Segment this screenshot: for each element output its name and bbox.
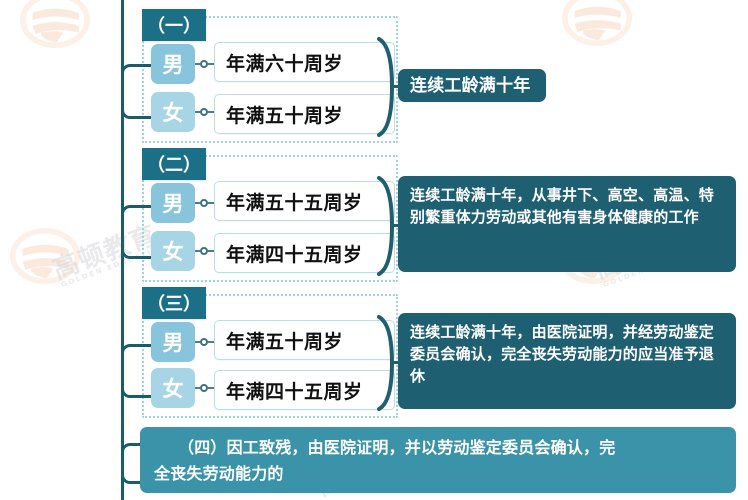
- node-dash-right: [208, 63, 214, 65]
- gender-chip-male-2[interactable]: 男: [151, 183, 195, 223]
- watermark-logo-icon: [18, 0, 92, 48]
- age-pill-label: 年满四十五周岁: [226, 240, 363, 267]
- gender-chip-label: 男: [163, 49, 184, 79]
- condition-text: 连续工龄满十年，由医院证明，并经劳动鉴定委员会确认，完全丧失劳动能力的应当准予退…: [410, 323, 714, 385]
- watermark-logo-icon: [560, 0, 634, 46]
- group-badge-1: （一）: [142, 9, 206, 41]
- condition-panel-4: （四）因工致残，由医院证明，并以劳动鉴定委员会确认，完 全丧失劳动能力的: [140, 427, 736, 493]
- bottom-line-1: （四）因工致残，由医院证明，并以劳动鉴定委员会确认，完: [178, 438, 615, 457]
- node-connector: [195, 199, 214, 207]
- node-ring-icon: [200, 199, 208, 207]
- node-ring-icon: [200, 384, 208, 392]
- gender-chip-label: 男: [163, 188, 184, 218]
- node-dash-right: [208, 250, 214, 252]
- group-badge-label: （三）: [147, 290, 201, 316]
- condition-text: 连续工龄满十年，从事井下、高空、高温、特别繁重体力劳动或其他有害身体健康的工作: [410, 186, 714, 226]
- age-pill-2-male[interactable]: 年满五十五周岁: [214, 181, 395, 221]
- bottom-line-2: 全丧失劳动能力的: [154, 461, 722, 487]
- gender-chip-label: 女: [163, 97, 184, 127]
- node-dash-right: [208, 341, 214, 343]
- age-pill-1-female[interactable]: 年满五十周岁: [214, 94, 395, 134]
- watermark-logo-icon: [8, 228, 82, 284]
- condition-panel-3: 连续工龄满十年，由医院证明，并经劳动鉴定委员会确认，完全丧失劳动能力的应当准予退…: [398, 313, 736, 409]
- age-pill-3-male[interactable]: 年满五十周岁: [214, 320, 395, 360]
- age-pill-label: 年满四十五周岁: [226, 377, 363, 404]
- gender-chip-label: 女: [163, 373, 184, 403]
- group-badge-3: （三）: [142, 287, 206, 319]
- gender-chip-label: 女: [163, 236, 184, 266]
- group-badge-2: （二）: [142, 148, 206, 180]
- age-pill-2-female[interactable]: 年满四十五周岁: [214, 233, 395, 273]
- age-pill-label: 年满六十周岁: [226, 49, 343, 76]
- gender-chip-female-1[interactable]: 女: [151, 92, 195, 132]
- gender-chip-male-1[interactable]: 男: [151, 44, 195, 84]
- node-connector: [195, 247, 214, 255]
- connector-elbow: [121, 344, 154, 363]
- connector-elbow: [121, 240, 154, 259]
- node-connector: [195, 384, 214, 392]
- age-pill-label: 年满五十五周岁: [226, 188, 363, 215]
- group-badge-label: （二）: [147, 151, 201, 177]
- age-pill-3-female[interactable]: 年满四十五周岁: [214, 370, 395, 410]
- connector-elbow: [121, 379, 154, 398]
- node-dash-right: [208, 387, 214, 389]
- condition-panel-1: 连续工龄满十年: [398, 69, 546, 102]
- node-ring-icon: [200, 60, 208, 68]
- connector-elbow: [121, 64, 154, 83]
- diagram-canvas: 高顿教育 GOLDEN EDUCATION 高顿教育 GOLDEN EDUCAT…: [0, 0, 748, 500]
- connector-elbow: [121, 100, 154, 119]
- node-ring-icon: [200, 338, 208, 346]
- node-dash-right: [208, 202, 214, 204]
- condition-text: 连续工龄满十年: [410, 76, 530, 96]
- node-connector: [195, 108, 214, 116]
- condition-panel-2: 连续工龄满十年，从事井下、高空、高温、特别繁重体力劳动或其他有害身体健康的工作: [398, 176, 736, 272]
- node-connector: [195, 60, 214, 68]
- age-pill-label: 年满五十周岁: [226, 327, 343, 354]
- age-pill-1-male[interactable]: 年满六十周岁: [214, 42, 395, 82]
- age-pill-label: 年满五十周岁: [226, 101, 343, 128]
- node-connector: [195, 338, 214, 346]
- gender-chip-male-3[interactable]: 男: [151, 322, 195, 362]
- connector-elbow: [121, 205, 154, 224]
- gender-chip-female-3[interactable]: 女: [151, 368, 195, 408]
- gender-chip-label: 男: [163, 327, 184, 357]
- node-ring-icon: [200, 108, 208, 116]
- group-badge-label: （一）: [147, 12, 201, 38]
- gender-chip-female-2[interactable]: 女: [151, 231, 195, 271]
- node-ring-icon: [200, 247, 208, 255]
- node-dash-right: [208, 111, 214, 113]
